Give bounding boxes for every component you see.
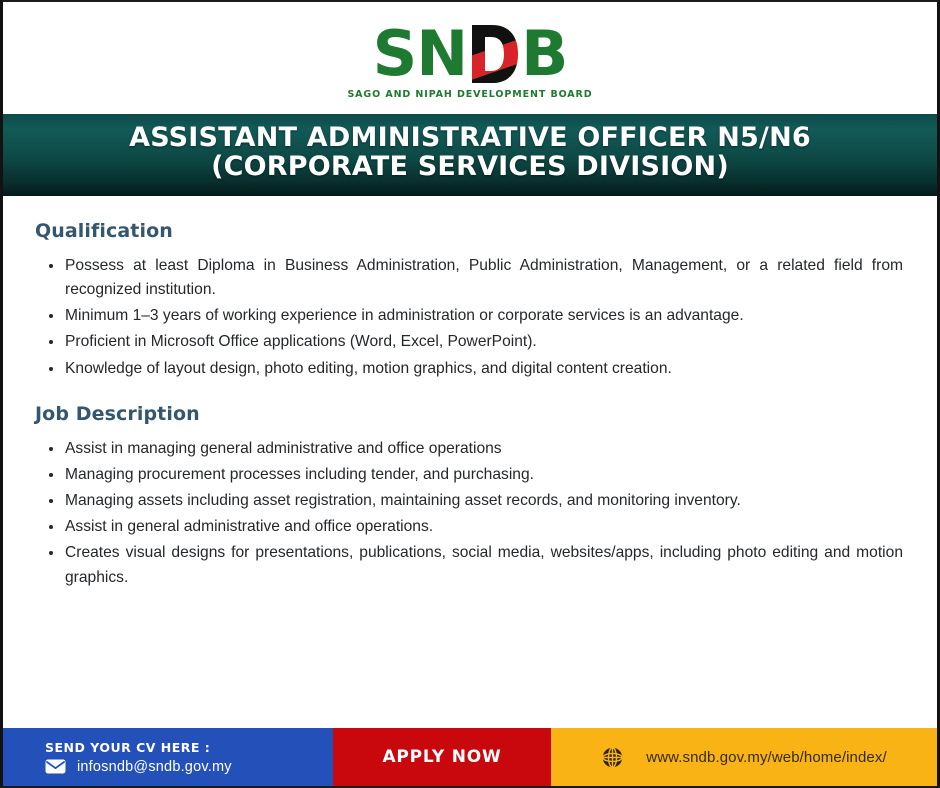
envelope-icon	[45, 759, 66, 774]
list-item: Managing procurement processes including…	[35, 463, 907, 487]
list-item: Minimum 1–3 years of working experience …	[35, 304, 907, 328]
job-description-list: Assist in managing general administrativ…	[35, 437, 907, 590]
poster-body: Qualification Possess at least Diploma i…	[3, 196, 937, 702]
qualification-heading: Qualification	[35, 220, 907, 242]
logo-letter-n: N	[416, 23, 467, 85]
website-url[interactable]: www.sndb.gov.my/web/home/index/	[646, 749, 886, 766]
list-item: Creates visual designs for presentations…	[35, 541, 907, 589]
list-item: Assist in general administrative and off…	[35, 515, 907, 539]
logo-letter-b: B	[521, 23, 567, 85]
job-vacancy-poster: S N B SAGO	[0, 0, 940, 788]
job-description-heading: Job Description	[35, 403, 907, 425]
website-panel[interactable]: www.sndb.gov.my/web/home/index/	[551, 728, 937, 786]
send-cv-email-row[interactable]: infosndb@sndb.gov.my	[45, 759, 333, 775]
job-title-banner: ASSISTANT ADMINISTRATIVE OFFICER N5/N6 (…	[3, 114, 937, 196]
globe-icon	[601, 746, 624, 769]
job-description-section: Job Description Assist in managing gener…	[35, 403, 907, 590]
logo-letter-s: S	[373, 23, 417, 85]
send-cv-panel: SEND YOUR CV HERE : infosndb@sndb.gov.my	[3, 728, 333, 786]
list-item: Knowledge of layout design, photo editin…	[35, 357, 907, 381]
qualification-section: Qualification Possess at least Diploma i…	[35, 220, 907, 381]
sndb-logo: S N B	[373, 23, 568, 85]
poster-footer: SEND YOUR CV HERE : infosndb@sndb.gov.my…	[3, 728, 937, 786]
qualification-list: Possess at least Diploma in Business Adm…	[35, 254, 907, 381]
logo-letter-d-multicolor	[468, 23, 520, 85]
logo-header: S N B SAGO	[3, 2, 937, 114]
cv-email-address[interactable]: infosndb@sndb.gov.my	[77, 759, 232, 775]
list-item: Assist in managing general administrativ…	[35, 437, 907, 461]
job-title-line-2: (CORPORATE SERVICES DIVISION)	[211, 153, 729, 182]
send-cv-label: SEND YOUR CV HERE :	[45, 740, 333, 755]
job-title-line-1: ASSISTANT ADMINISTRATIVE OFFICER N5/N6	[129, 124, 811, 153]
logo-tagline: SAGO AND NIPAH DEVELOPMENT BOARD	[347, 89, 592, 100]
list-item: Proficient in Microsoft Office applicati…	[35, 330, 907, 354]
list-item: Possess at least Diploma in Business Adm…	[35, 254, 907, 302]
list-item: Managing assets including asset registra…	[35, 489, 907, 513]
apply-now-button[interactable]: APPLY NOW	[333, 728, 551, 786]
